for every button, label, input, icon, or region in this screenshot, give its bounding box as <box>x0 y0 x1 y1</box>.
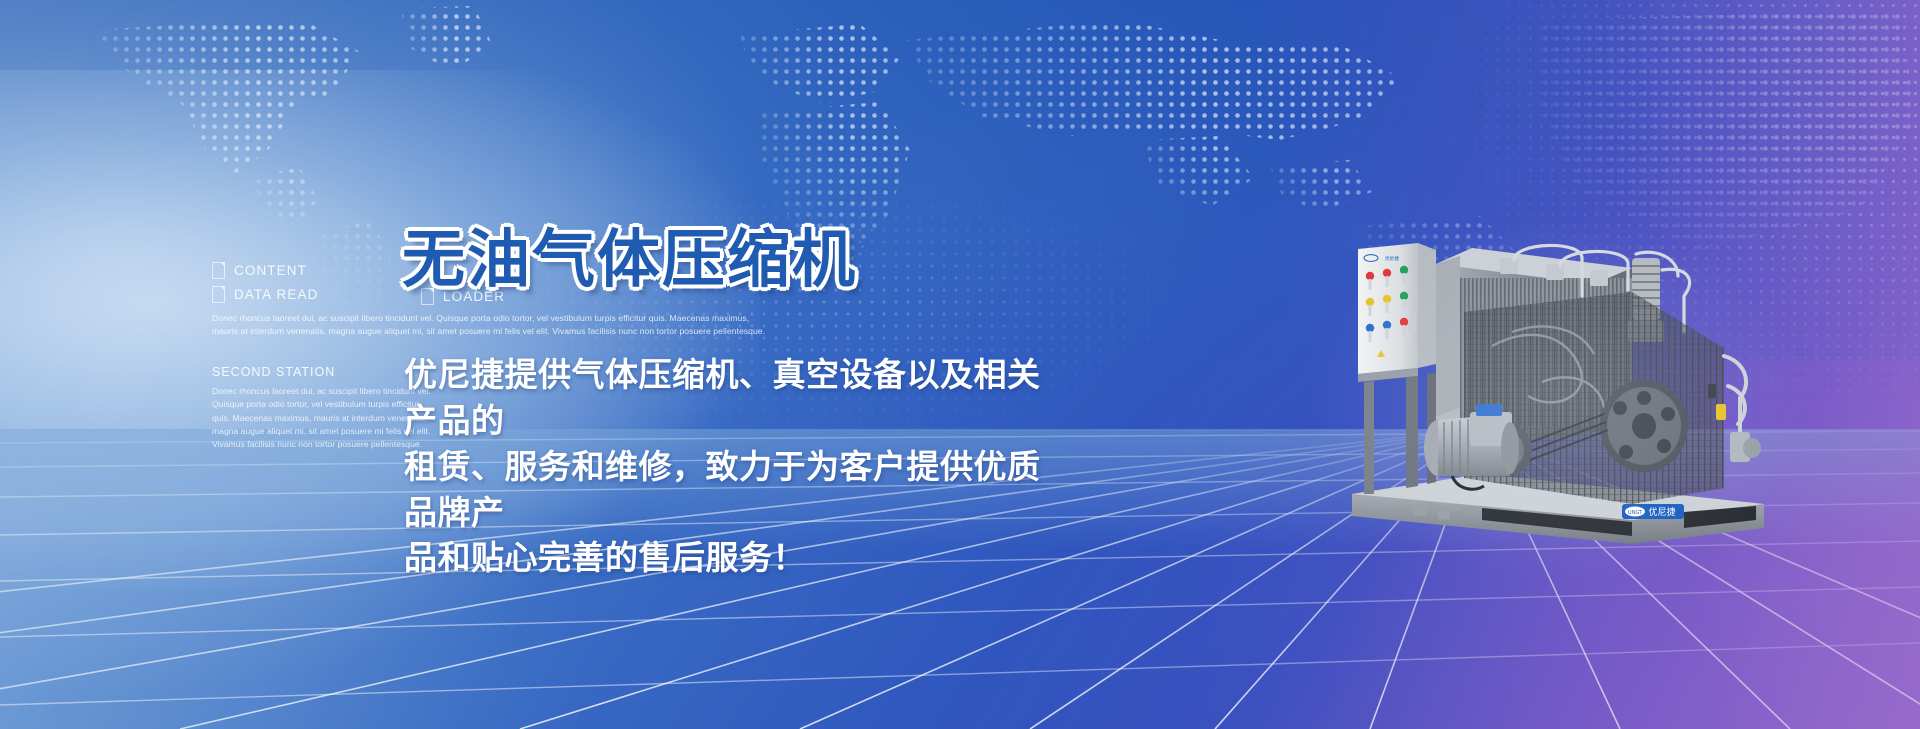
info-item-label: CONTENT <box>234 263 307 278</box>
svg-text:优尼捷: 优尼捷 <box>1648 506 1675 518</box>
info-lorem-text: Donec rhoncus laoreet dui, ac suscipit l… <box>212 312 772 338</box>
svg-text:优尼捷: 优尼捷 <box>1385 255 1399 262</box>
description-line: 品和贴心完善的售后服务！ <box>404 535 1044 581</box>
info-item-label: DATA READ <box>234 287 318 302</box>
brand-badge: UNGT 优尼捷 <box>1622 504 1684 519</box>
compressor-machine-image: UNGT 优尼捷 优尼捷 <box>1332 236 1770 548</box>
page-title: 无油气体压缩机 <box>402 228 857 291</box>
banner-description: 优尼捷提供气体压缩机、真空设备以及相关产品的 租赁、服务和维修，致力于为客户提供… <box>404 352 1044 581</box>
description-line: 优尼捷提供气体压缩机、真空设备以及相关产品的 <box>404 352 1044 444</box>
control-cabinet: 优尼捷 <box>1358 243 1436 494</box>
second-station-block: SECOND STATION Donec rhoncus laoreet dui… <box>212 365 434 452</box>
second-station-title: SECOND STATION <box>212 365 434 379</box>
document-icon <box>212 262 225 279</box>
hero-banner: CONTENT DATA READ Donec rhoncus laoreet … <box>0 0 1920 729</box>
description-line: 租赁、服务和维修，致力于为客户提供优质品牌产 <box>404 444 1044 536</box>
svg-text:UNGT: UNGT <box>1628 510 1643 516</box>
second-station-body: Donec rhoncus laoreet dui, ac suscipit l… <box>212 385 434 452</box>
document-icon <box>212 286 225 303</box>
